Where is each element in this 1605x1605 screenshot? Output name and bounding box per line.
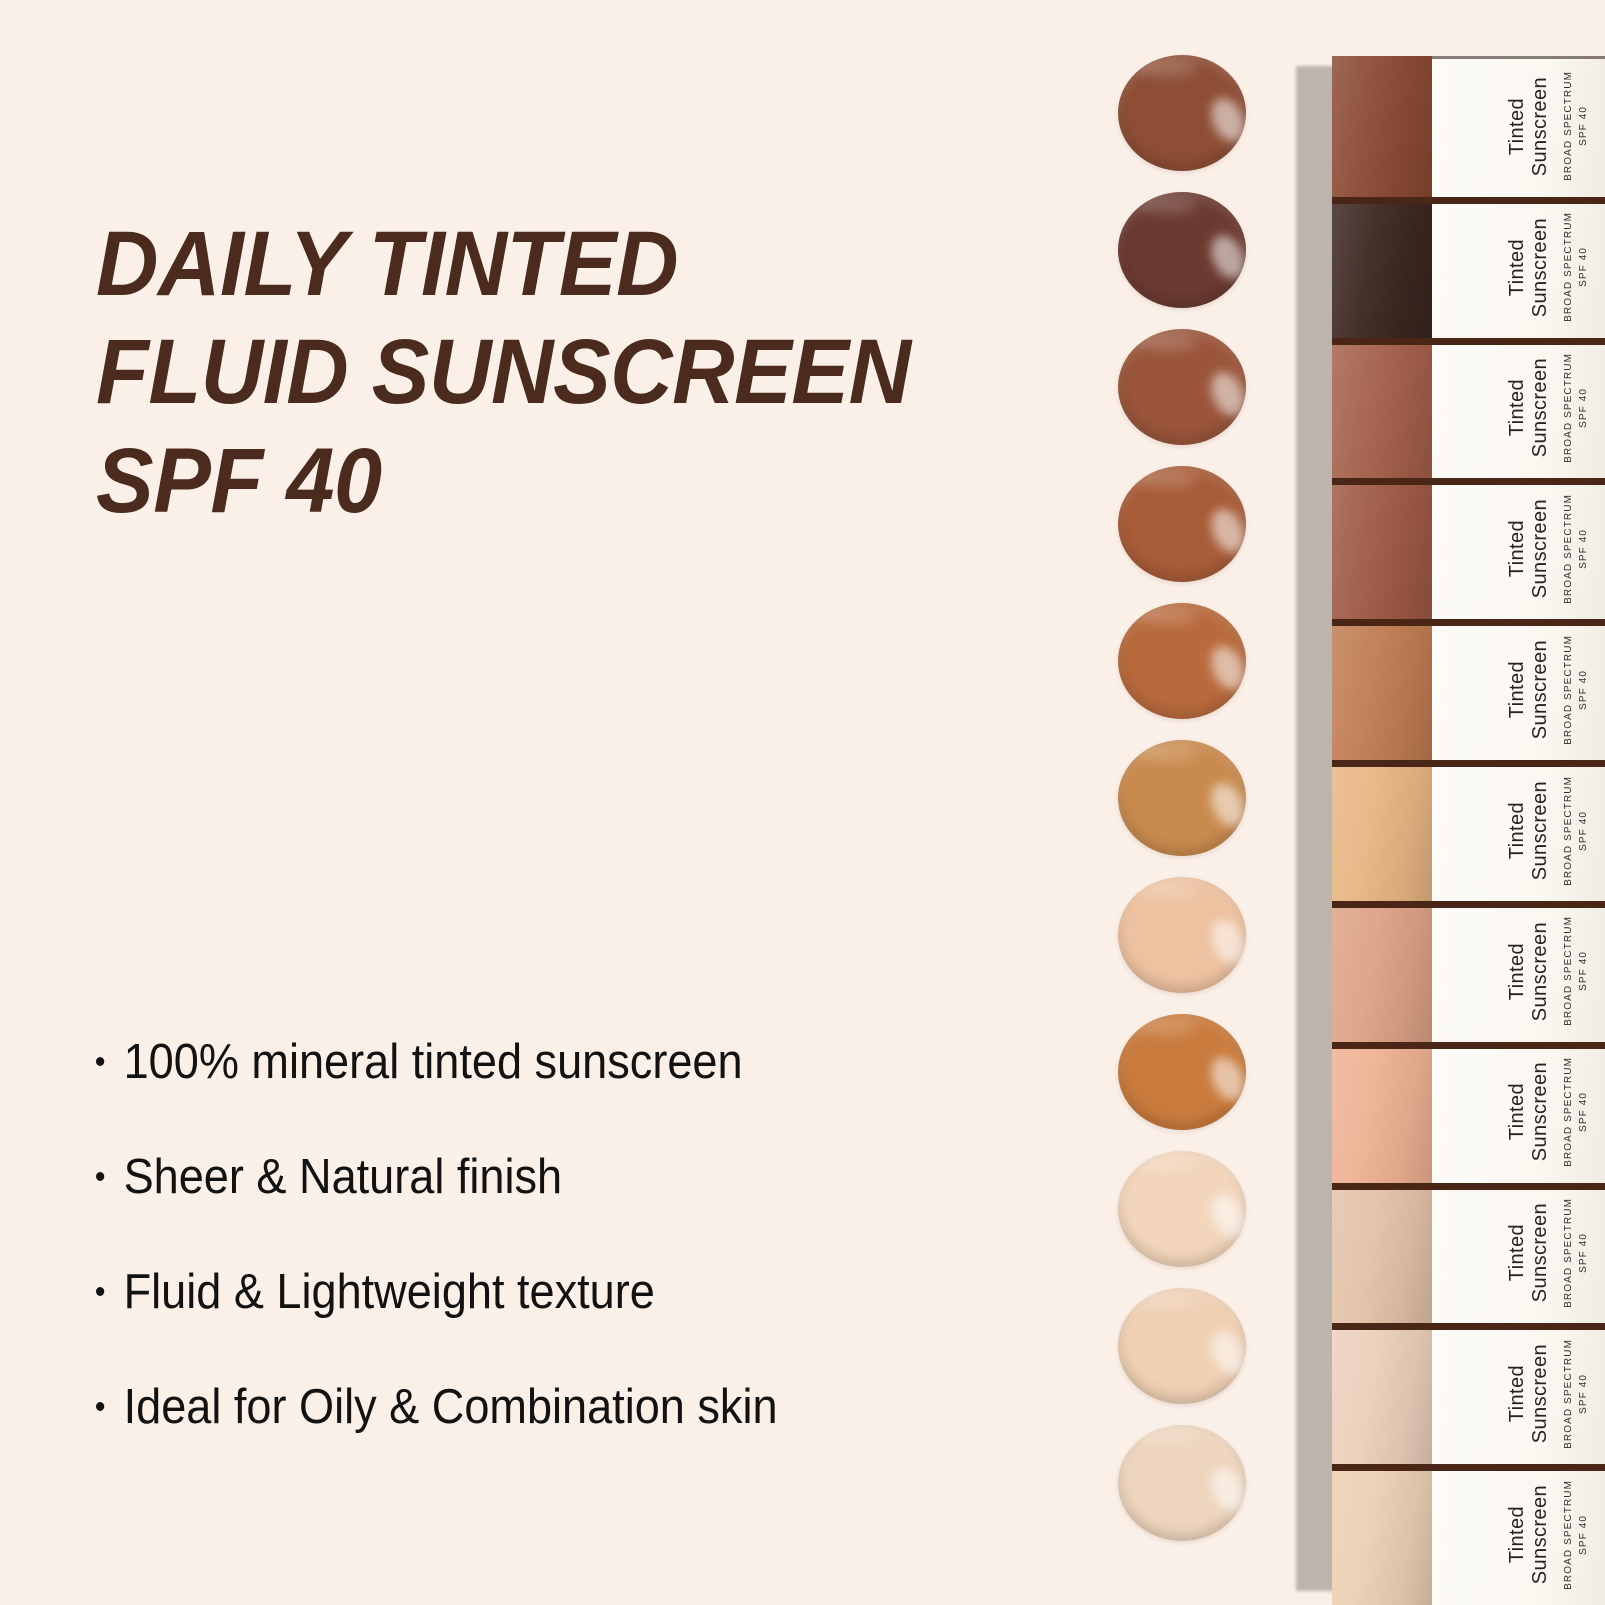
tube-label: Tinted SunscreenBROAD SPECTRUM SPF 40: [1506, 1339, 1591, 1449]
tube-seam: [1332, 760, 1605, 767]
tube-product-name: Tinted Sunscreen: [1506, 1062, 1552, 1161]
tube-spf-spec: BROAD SPECTRUM SPF 40: [1561, 916, 1591, 1026]
cap-sheen: [1332, 56, 1432, 197]
product-tube[interactable]: Tinted SunscreenBROAD SPECTRUM SPF 40: [1332, 1183, 1605, 1324]
swatch-top-highlight: [1136, 1019, 1198, 1035]
tube-spf-spec: BROAD SPECTRUM SPF 40: [1561, 71, 1591, 181]
swatch-top-highlight: [1136, 1430, 1198, 1446]
product-tube[interactable]: Tinted SunscreenBROAD SPECTRUM SPF 40: [1332, 901, 1605, 1042]
shade-swatch[interactable]: [1118, 740, 1246, 856]
headline-line-2: FLUID SUNSCREEN: [96, 318, 1027, 427]
tube-spf-spec: BROAD SPECTRUM SPF 40: [1561, 353, 1591, 463]
tube-seam: [1332, 1464, 1605, 1471]
tube-label-body: Tinted SunscreenBROAD SPECTRUM SPF 40: [1432, 56, 1605, 197]
cap-sheen: [1332, 1323, 1432, 1464]
tube-product-name: Tinted Sunscreen: [1506, 781, 1552, 880]
tube-label-body: Tinted SunscreenBROAD SPECTRUM SPF 40: [1432, 619, 1605, 760]
cap-sheen: [1332, 478, 1432, 619]
tube-seam: [1332, 1042, 1605, 1049]
shade-swatch[interactable]: [1118, 877, 1246, 993]
swatch-top-highlight: [1136, 608, 1198, 624]
list-item: 100% mineral tinted sunscreen: [96, 1036, 998, 1090]
cap-sheen: [1332, 760, 1432, 901]
product-tube[interactable]: Tinted SunscreenBROAD SPECTRUM SPF 40: [1332, 1042, 1605, 1183]
product-tube[interactable]: Tinted SunscreenBROAD SPECTRUM SPF 40: [1332, 197, 1605, 338]
cap-sheen: [1332, 197, 1432, 338]
bullet-dot-icon: [96, 1287, 104, 1296]
bullet-dot-icon: [96, 1057, 104, 1066]
product-tube[interactable]: Tinted SunscreenBROAD SPECTRUM SPF 40: [1332, 1464, 1605, 1605]
product-tube-column: Tinted SunscreenBROAD SPECTRUM SPF 40Tin…: [1296, 56, 1605, 1605]
swatch-top-highlight: [1136, 197, 1198, 213]
shade-swatch[interactable]: [1118, 1288, 1246, 1404]
tube-label-body: Tinted SunscreenBROAD SPECTRUM SPF 40: [1432, 197, 1605, 338]
tube-spf-spec: BROAD SPECTRUM SPF 40: [1561, 635, 1591, 745]
tube-spf-spec: BROAD SPECTRUM SPF 40: [1561, 776, 1591, 886]
tube-tinted-cap: [1332, 1464, 1432, 1605]
benefit-text: 100% mineral tinted sunscreen: [124, 1036, 743, 1090]
shade-swatch[interactable]: [1118, 466, 1246, 582]
tube-product-name: Tinted Sunscreen: [1506, 499, 1552, 598]
product-tube[interactable]: Tinted SunscreenBROAD SPECTRUM SPF 40: [1332, 478, 1605, 619]
product-tube[interactable]: Tinted SunscreenBROAD SPECTRUM SPF 40: [1332, 56, 1605, 197]
tube-tinted-cap: [1332, 338, 1432, 479]
tube-spf-spec: BROAD SPECTRUM SPF 40: [1561, 212, 1591, 322]
cap-sheen: [1332, 619, 1432, 760]
tube-label: Tinted SunscreenBROAD SPECTRUM SPF 40: [1506, 1480, 1591, 1590]
tube-seam: [1332, 901, 1605, 908]
swatch-top-highlight: [1136, 471, 1198, 487]
tube-seam: [1332, 338, 1605, 345]
tube-tinted-cap: [1332, 1042, 1432, 1183]
copy-panel: DAILY TINTED FLUID SUNSCREEN SPF 40 100%…: [0, 0, 1100, 1605]
tube-seam: [1332, 478, 1605, 485]
tube-label: Tinted SunscreenBROAD SPECTRUM SPF 40: [1506, 212, 1591, 322]
cap-sheen: [1332, 1464, 1432, 1605]
shade-swatch[interactable]: [1118, 55, 1246, 171]
cap-sheen: [1332, 1042, 1432, 1183]
tube-spf-spec: BROAD SPECTRUM SPF 40: [1561, 1480, 1591, 1590]
tube-spf-spec: BROAD SPECTRUM SPF 40: [1561, 494, 1591, 604]
tube-spf-spec: BROAD SPECTRUM SPF 40: [1561, 1339, 1591, 1449]
bullet-dot-icon: [96, 1172, 104, 1181]
tube-label-body: Tinted SunscreenBROAD SPECTRUM SPF 40: [1432, 478, 1605, 619]
cap-sheen: [1332, 901, 1432, 1042]
tube-spf-spec: BROAD SPECTRUM SPF 40: [1561, 1057, 1591, 1167]
tube-spf-spec: BROAD SPECTRUM SPF 40: [1561, 1198, 1591, 1308]
tube-label: Tinted SunscreenBROAD SPECTRUM SPF 40: [1506, 1198, 1591, 1308]
tube-tinted-cap: [1332, 197, 1432, 338]
cap-sheen: [1332, 1183, 1432, 1324]
tube-label-body: Tinted SunscreenBROAD SPECTRUM SPF 40: [1432, 1464, 1605, 1605]
shade-swatch-column: [1118, 55, 1258, 1575]
tube-tinted-cap: [1332, 478, 1432, 619]
tube-stack: Tinted SunscreenBROAD SPECTRUM SPF 40Tin…: [1332, 56, 1605, 1605]
tube-product-name: Tinted Sunscreen: [1506, 1485, 1552, 1584]
product-tube[interactable]: Tinted SunscreenBROAD SPECTRUM SPF 40: [1332, 760, 1605, 901]
tube-label-body: Tinted SunscreenBROAD SPECTRUM SPF 40: [1432, 760, 1605, 901]
list-item: Ideal for Oily & Combination skin: [96, 1381, 998, 1435]
shade-swatch[interactable]: [1118, 1014, 1246, 1130]
tube-product-name: Tinted Sunscreen: [1506, 218, 1552, 317]
tube-product-name: Tinted Sunscreen: [1506, 922, 1552, 1021]
tube-label-body: Tinted SunscreenBROAD SPECTRUM SPF 40: [1432, 1323, 1605, 1464]
tube-label-body: Tinted SunscreenBROAD SPECTRUM SPF 40: [1432, 1042, 1605, 1183]
tube-product-name: Tinted Sunscreen: [1506, 1203, 1552, 1302]
tube-tinted-cap: [1332, 56, 1432, 197]
tube-seam: [1332, 197, 1605, 204]
tube-label: Tinted SunscreenBROAD SPECTRUM SPF 40: [1506, 776, 1591, 886]
swatch-top-highlight: [1136, 745, 1198, 761]
swatch-top-highlight: [1136, 1293, 1198, 1309]
swatch-top-highlight: [1136, 60, 1198, 76]
benefit-text: Sheer & Natural finish: [124, 1151, 563, 1205]
tube-tinted-cap: [1332, 901, 1432, 1042]
tube-label-body: Tinted SunscreenBROAD SPECTRUM SPF 40: [1432, 901, 1605, 1042]
tube-label: Tinted SunscreenBROAD SPECTRUM SPF 40: [1506, 1057, 1591, 1167]
shade-swatch[interactable]: [1118, 1151, 1246, 1267]
shade-swatch[interactable]: [1118, 192, 1246, 308]
list-item: Fluid & Lightweight texture: [96, 1266, 998, 1320]
bullet-dot-icon: [96, 1402, 104, 1411]
benefit-text: Fluid & Lightweight texture: [124, 1266, 655, 1320]
tube-seam: [1332, 1183, 1605, 1190]
tube-label: Tinted SunscreenBROAD SPECTRUM SPF 40: [1506, 353, 1591, 463]
headline-line-3: SPF 40: [96, 427, 1027, 536]
list-item: Sheer & Natural finish: [96, 1151, 998, 1205]
tube-label-body: Tinted SunscreenBROAD SPECTRUM SPF 40: [1432, 338, 1605, 479]
headline-line-1: DAILY TINTED: [96, 210, 1027, 319]
tube-stack-shadow: [1296, 66, 1336, 1591]
tube-product-name: Tinted Sunscreen: [1506, 77, 1552, 176]
swatch-top-highlight: [1136, 1156, 1198, 1172]
tube-product-name: Tinted Sunscreen: [1506, 1344, 1552, 1443]
product-tube[interactable]: Tinted SunscreenBROAD SPECTRUM SPF 40: [1332, 1323, 1605, 1464]
benefit-text: Ideal for Oily & Combination skin: [124, 1381, 778, 1435]
tube-seam: [1332, 1323, 1605, 1330]
swatch-top-highlight: [1136, 334, 1198, 350]
page-title: DAILY TINTED FLUID SUNSCREEN SPF 40: [96, 210, 1027, 536]
tube-label: Tinted SunscreenBROAD SPECTRUM SPF 40: [1506, 494, 1591, 604]
shade-swatch[interactable]: [1118, 1425, 1246, 1541]
tube-label-body: Tinted SunscreenBROAD SPECTRUM SPF 40: [1432, 1183, 1605, 1324]
tube-tinted-cap: [1332, 760, 1432, 901]
swatch-top-highlight: [1136, 882, 1198, 898]
tube-product-name: Tinted Sunscreen: [1506, 358, 1552, 457]
tube-product-name: Tinted Sunscreen: [1506, 640, 1552, 739]
tube-tinted-cap: [1332, 1183, 1432, 1324]
tube-seam: [1332, 619, 1605, 626]
tube-label: Tinted SunscreenBROAD SPECTRUM SPF 40: [1506, 635, 1591, 745]
tube-tinted-cap: [1332, 1323, 1432, 1464]
tube-label: Tinted SunscreenBROAD SPECTRUM SPF 40: [1506, 916, 1591, 1026]
product-tube[interactable]: Tinted SunscreenBROAD SPECTRUM SPF 40: [1332, 619, 1605, 760]
benefits-list: 100% mineral tinted sunscreen Sheer & Na…: [96, 1036, 1076, 1435]
tube-label: Tinted SunscreenBROAD SPECTRUM SPF 40: [1506, 71, 1591, 181]
tube-tinted-cap: [1332, 619, 1432, 760]
cap-sheen: [1332, 338, 1432, 479]
shade-swatch[interactable]: [1118, 603, 1246, 719]
product-tube[interactable]: Tinted SunscreenBROAD SPECTRUM SPF 40: [1332, 338, 1605, 479]
shade-swatch[interactable]: [1118, 329, 1246, 445]
